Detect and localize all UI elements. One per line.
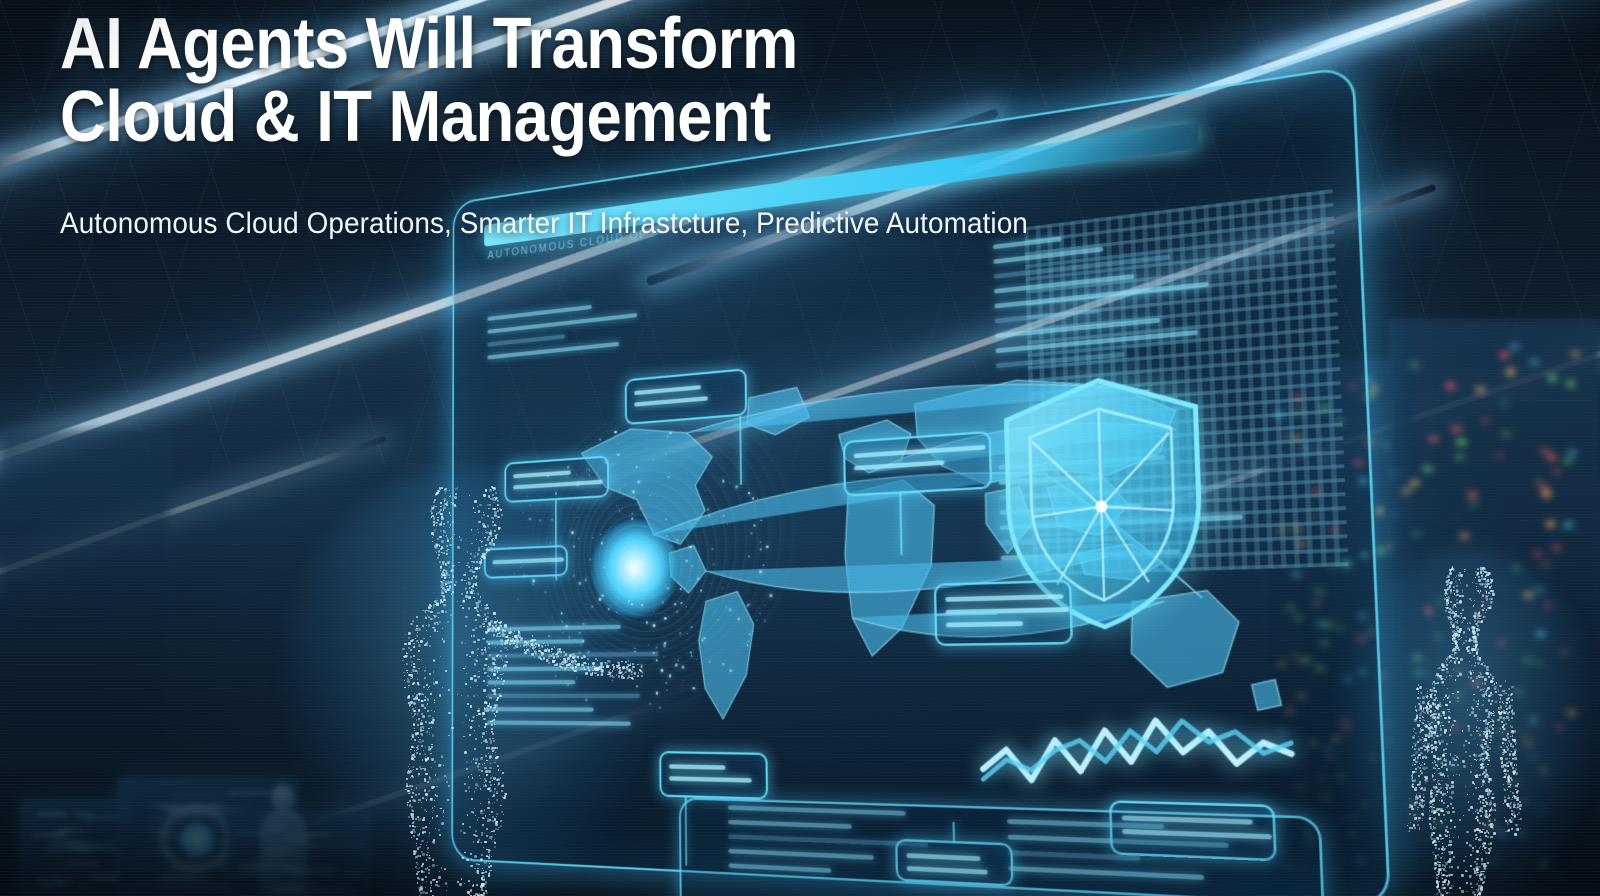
rack-status-led (1481, 418, 1490, 424)
rack-status-led (1540, 485, 1549, 491)
rack-status-led (1566, 381, 1575, 387)
rack-status-led (1568, 450, 1577, 456)
page-subtitle: Autonomous Cloud Operations, Smarter IT … (60, 207, 1176, 241)
title-line-1: AI Agents Will Transform (60, 8, 1116, 81)
rack-status-led (1412, 531, 1421, 537)
rack-status-led (1410, 362, 1419, 368)
rack-status-led (1548, 375, 1557, 381)
rack-status-led (1564, 522, 1573, 528)
rack-status-led (1455, 454, 1464, 460)
rack-status-led (1563, 458, 1572, 464)
rack-status-led (1571, 351, 1580, 357)
rack-status-led (1446, 383, 1455, 389)
rack-status-led (1530, 359, 1539, 365)
rack-status-led (1410, 480, 1419, 486)
rack-status-led (1468, 492, 1477, 498)
callout-node-2[interactable] (625, 368, 747, 425)
page-title: AI Agents Will Transform Cloud & IT Mana… (60, 8, 1116, 155)
rack-status-led (1452, 426, 1461, 432)
rack-status-led (1546, 521, 1555, 527)
rack-status-led (1500, 352, 1509, 358)
callout-node-5[interactable] (659, 751, 768, 800)
telemetry-waveform-chart (981, 700, 1293, 808)
rack-status-led (1429, 436, 1438, 442)
rack-status-led (1469, 501, 1478, 507)
rack-status-led (1506, 369, 1515, 375)
hero-copy: AI Agents Will Transform Cloud & IT Mana… (60, 8, 1260, 241)
title-line-2: Cloud & IT Management (60, 81, 1116, 154)
rack-status-led (1476, 387, 1485, 393)
particle-figure-left (300, 486, 630, 896)
rack-status-led (1542, 491, 1551, 497)
rack-status-led (1502, 431, 1511, 437)
rack-status-led (1547, 454, 1556, 460)
rack-status-led (1402, 488, 1411, 494)
rack-status-led (1500, 400, 1509, 406)
figure-glow (1340, 548, 1596, 896)
rack-status-led (1552, 469, 1561, 475)
particle-figure-right (1358, 566, 1578, 896)
hero-banner: AUTONOMOUS CLOUD OPS (0, 0, 1600, 896)
rack-status-led (1423, 466, 1432, 472)
rack-status-led (1495, 453, 1504, 459)
rack-status-led (1510, 344, 1519, 350)
rack-status-led (1457, 439, 1466, 445)
callout-node-3[interactable] (843, 431, 992, 497)
